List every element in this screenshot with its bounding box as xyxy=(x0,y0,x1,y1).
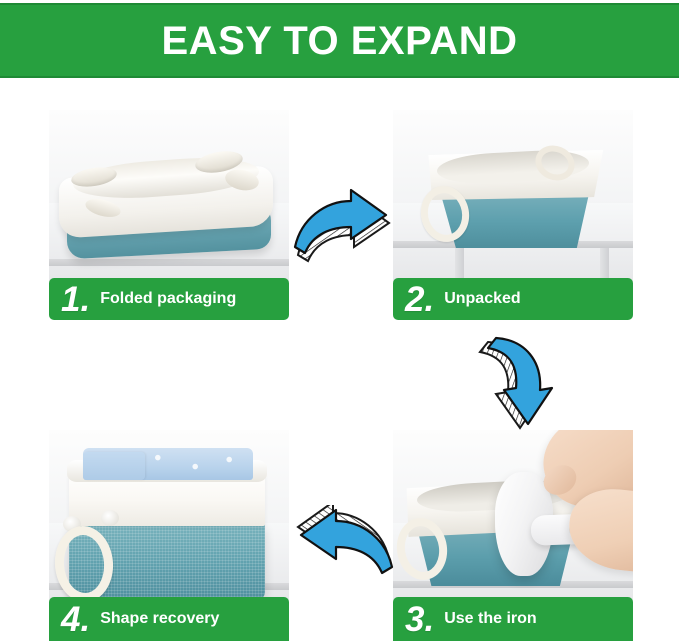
page-title: EASY TO EXPAND xyxy=(162,21,518,61)
arrow-step2-to-step3 xyxy=(470,330,570,430)
step-image-2 xyxy=(393,110,633,282)
step-number-2: 2. xyxy=(393,282,438,317)
step-number-1: 1. xyxy=(49,282,94,317)
step-text-3: Use the iron xyxy=(438,611,536,627)
step-image-4 xyxy=(49,430,289,602)
scene-table-leg xyxy=(455,248,464,282)
arrow-step1-to-step2 xyxy=(291,185,391,265)
step-image-3 xyxy=(393,430,633,602)
header-banner: EASY TO EXPAND xyxy=(0,3,679,78)
scene-table-edge xyxy=(49,259,289,266)
scene-table-leg xyxy=(600,248,609,282)
step-number-3: 3. xyxy=(393,602,438,637)
arrow-step3-to-step4 xyxy=(291,505,396,585)
folded-clothes-item xyxy=(83,452,145,480)
step-label-2: 2. Unpacked xyxy=(393,278,633,320)
step-image-1 xyxy=(49,110,289,282)
step-number-4: 4. xyxy=(49,602,94,637)
step-label-1: 1. Folded packaging xyxy=(49,278,289,320)
step-text-2: Unpacked xyxy=(438,291,520,307)
handle-grommet-right xyxy=(101,510,119,526)
step-label-4: 4. Shape recovery xyxy=(49,597,289,641)
step-label-3: 3. Use the iron xyxy=(393,597,633,641)
step-text-1: Folded packaging xyxy=(94,291,236,307)
step-text-4: Shape recovery xyxy=(94,611,219,627)
